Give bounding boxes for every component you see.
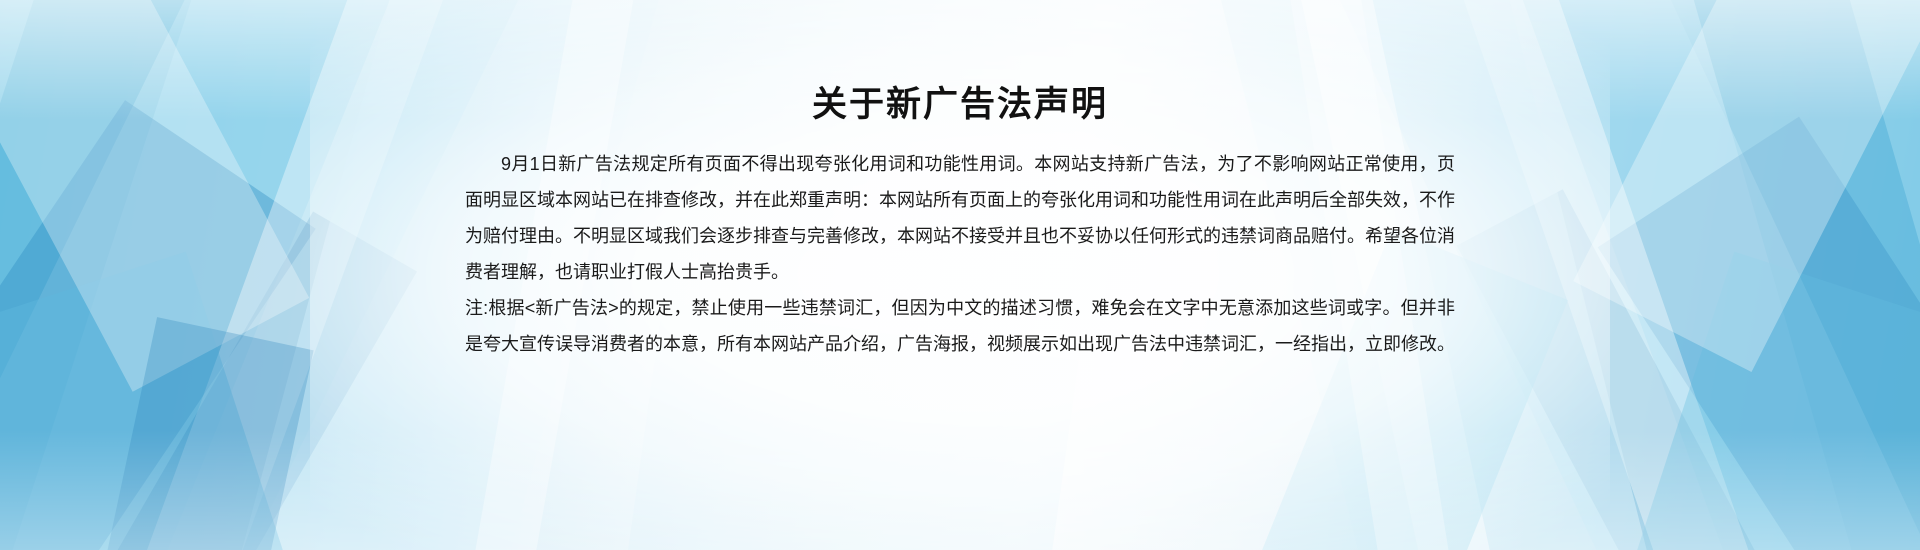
statement-paragraph-main: 9月1日新广告法规定所有页面不得出现夸张化用词和功能性用词。本网站支持新广告法，…	[465, 146, 1455, 290]
statement-paragraph-note: 注:根据<新广告法>的规定，禁止使用一些违禁词汇，但因为中文的描述习惯，难免会在…	[465, 290, 1455, 362]
advertising-law-statement-banner: 关于新广告法声明 9月1日新广告法规定所有页面不得出现夸张化用词和功能性用词。本…	[0, 0, 1920, 550]
page-title: 关于新广告法声明	[465, 84, 1455, 126]
statement-body: 9月1日新广告法规定所有页面不得出现夸张化用词和功能性用词。本网站支持新广告法，…	[465, 146, 1455, 362]
statement-content: 关于新广告法声明 9月1日新广告法规定所有页面不得出现夸张化用词和功能性用词。本…	[465, 0, 1455, 550]
